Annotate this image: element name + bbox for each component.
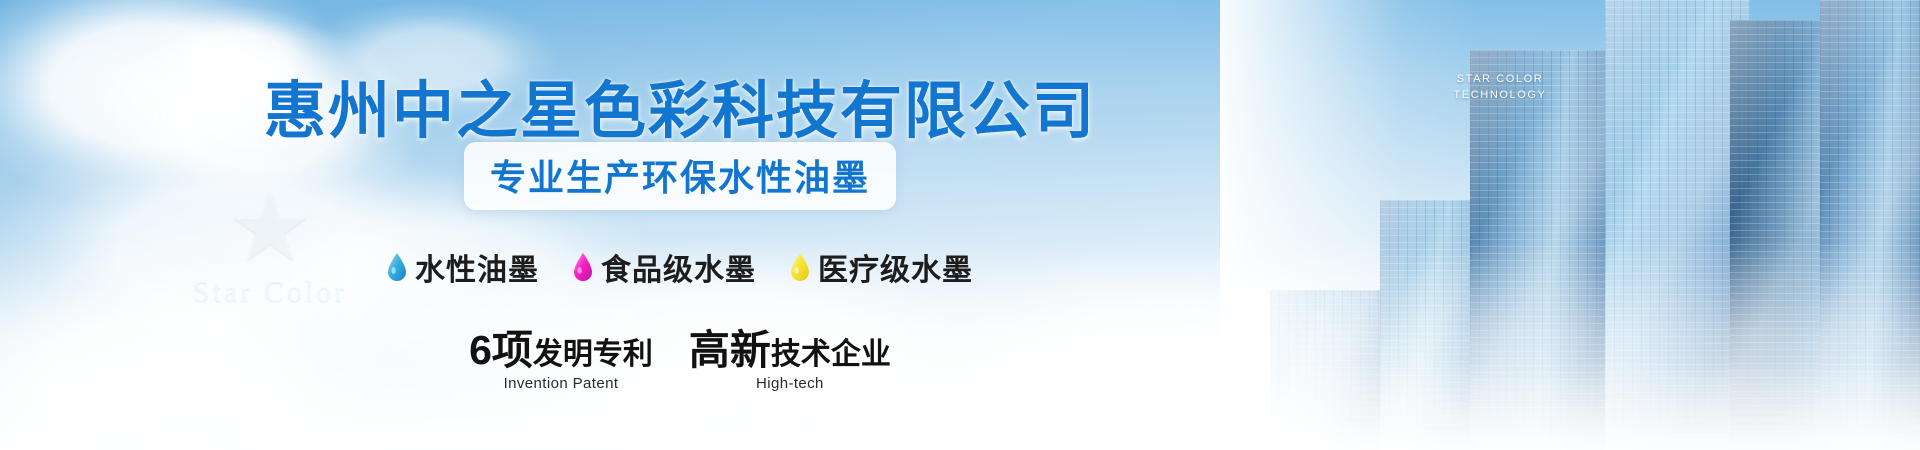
- feature-item: 医疗级水墨: [790, 245, 973, 289]
- credential-chinese: 6项发明专利: [469, 328, 653, 372]
- credential-highlight: 高新: [689, 327, 771, 373]
- credential-rest: 发明专利: [533, 338, 653, 371]
- building-shape: [1470, 50, 1620, 450]
- feature-label: 水性油墨: [415, 245, 539, 289]
- credential-english: Invention Patent: [469, 375, 653, 392]
- company-hero-banner: ★ Star Color STAR COLOR TECHNOLOGY 惠州中之星…: [0, 0, 1920, 450]
- credential-chinese: 高新技术企业: [689, 328, 891, 372]
- building-shape: [1605, 0, 1750, 450]
- credential-item: 高新技术企业 High-tech: [689, 328, 891, 392]
- credential-highlight: 6项: [469, 327, 533, 373]
- building-shape: [1820, 0, 1920, 450]
- banner-content: 惠州中之星色彩科技有限公司 专业生产环保水性油墨: [0, 0, 1360, 450]
- product-feature-list: 水性油墨: [0, 245, 1360, 289]
- credential-item: 6项发明专利 Invention Patent: [469, 328, 653, 392]
- water-drop-icon: [573, 253, 593, 281]
- water-drop-icon: [387, 253, 407, 281]
- credential-rest: 技术企业: [771, 338, 891, 371]
- water-drop-icon: [790, 253, 810, 281]
- credentials-row: 6项发明专利 Invention Patent 高新技术企业 High-tech: [0, 328, 1360, 392]
- subtitle-pill: 专业生产环保水性油墨: [464, 142, 896, 210]
- feature-label: 食品级水墨: [601, 245, 756, 289]
- feature-label: 医疗级水墨: [818, 245, 973, 289]
- credential-english: High-tech: [689, 375, 891, 392]
- subtitle-row: 专业生产环保水性油墨: [0, 142, 1360, 210]
- feature-item: 水性油墨: [387, 245, 539, 289]
- feature-item: 食品级水墨: [573, 245, 756, 289]
- company-title: 惠州中之星色彩科技有限公司: [0, 60, 1360, 150]
